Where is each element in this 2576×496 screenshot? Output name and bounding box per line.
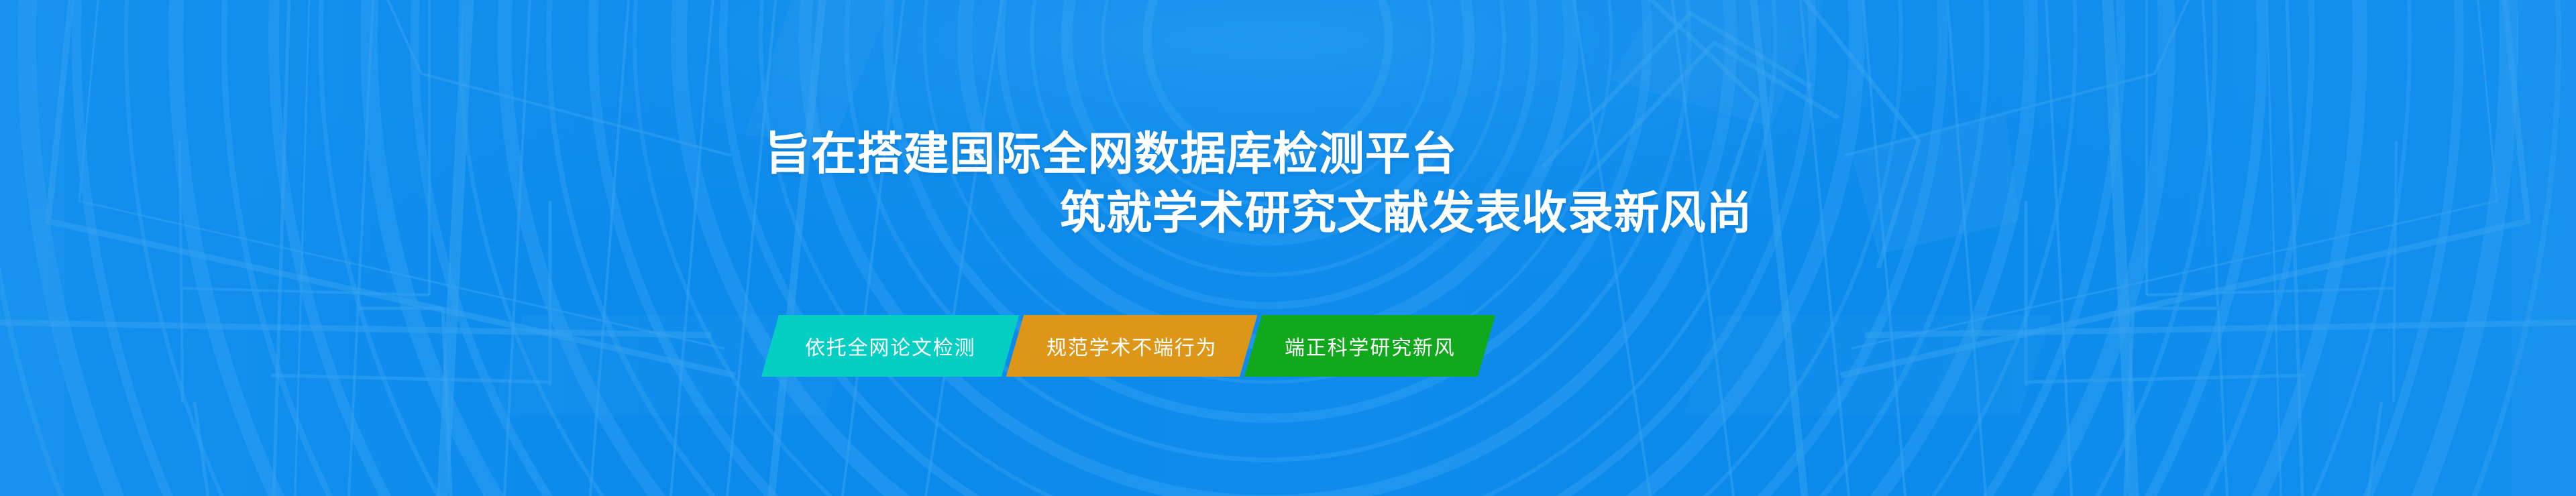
feature-badge-misconduct[interactable]: 规范学术不端行为 xyxy=(1006,315,1257,377)
feature-badge-detection[interactable]: 依托全网论文检测 xyxy=(761,315,1019,377)
headline-line-1: 旨在搭建国际全网数据库检测平台 xyxy=(765,127,1457,181)
feature-badge-strip: 依托全网论文检测 规范学术不端行为 端正科学研究新风 xyxy=(770,315,1487,377)
feature-badge-misconduct-label: 规范学术不端行为 xyxy=(1046,331,1217,361)
feature-badge-integrity-label: 端正科学研究新风 xyxy=(1285,331,1455,361)
headline-line-2: 筑就学术研究文献发表收录新风尚 xyxy=(1060,186,1752,240)
promo-banner: 旨在搭建国际全网数据库检测平台 筑就学术研究文献发表收录新风尚 依托全网论文检测… xyxy=(0,0,2576,496)
feature-badge-integrity[interactable]: 端正科学研究新风 xyxy=(1244,315,1495,377)
feature-badge-detection-label: 依托全网论文检测 xyxy=(805,331,975,361)
banner-content: 旨在搭建国际全网数据库检测平台 筑就学术研究文献发表收录新风尚 依托全网论文检测… xyxy=(0,0,2576,496)
